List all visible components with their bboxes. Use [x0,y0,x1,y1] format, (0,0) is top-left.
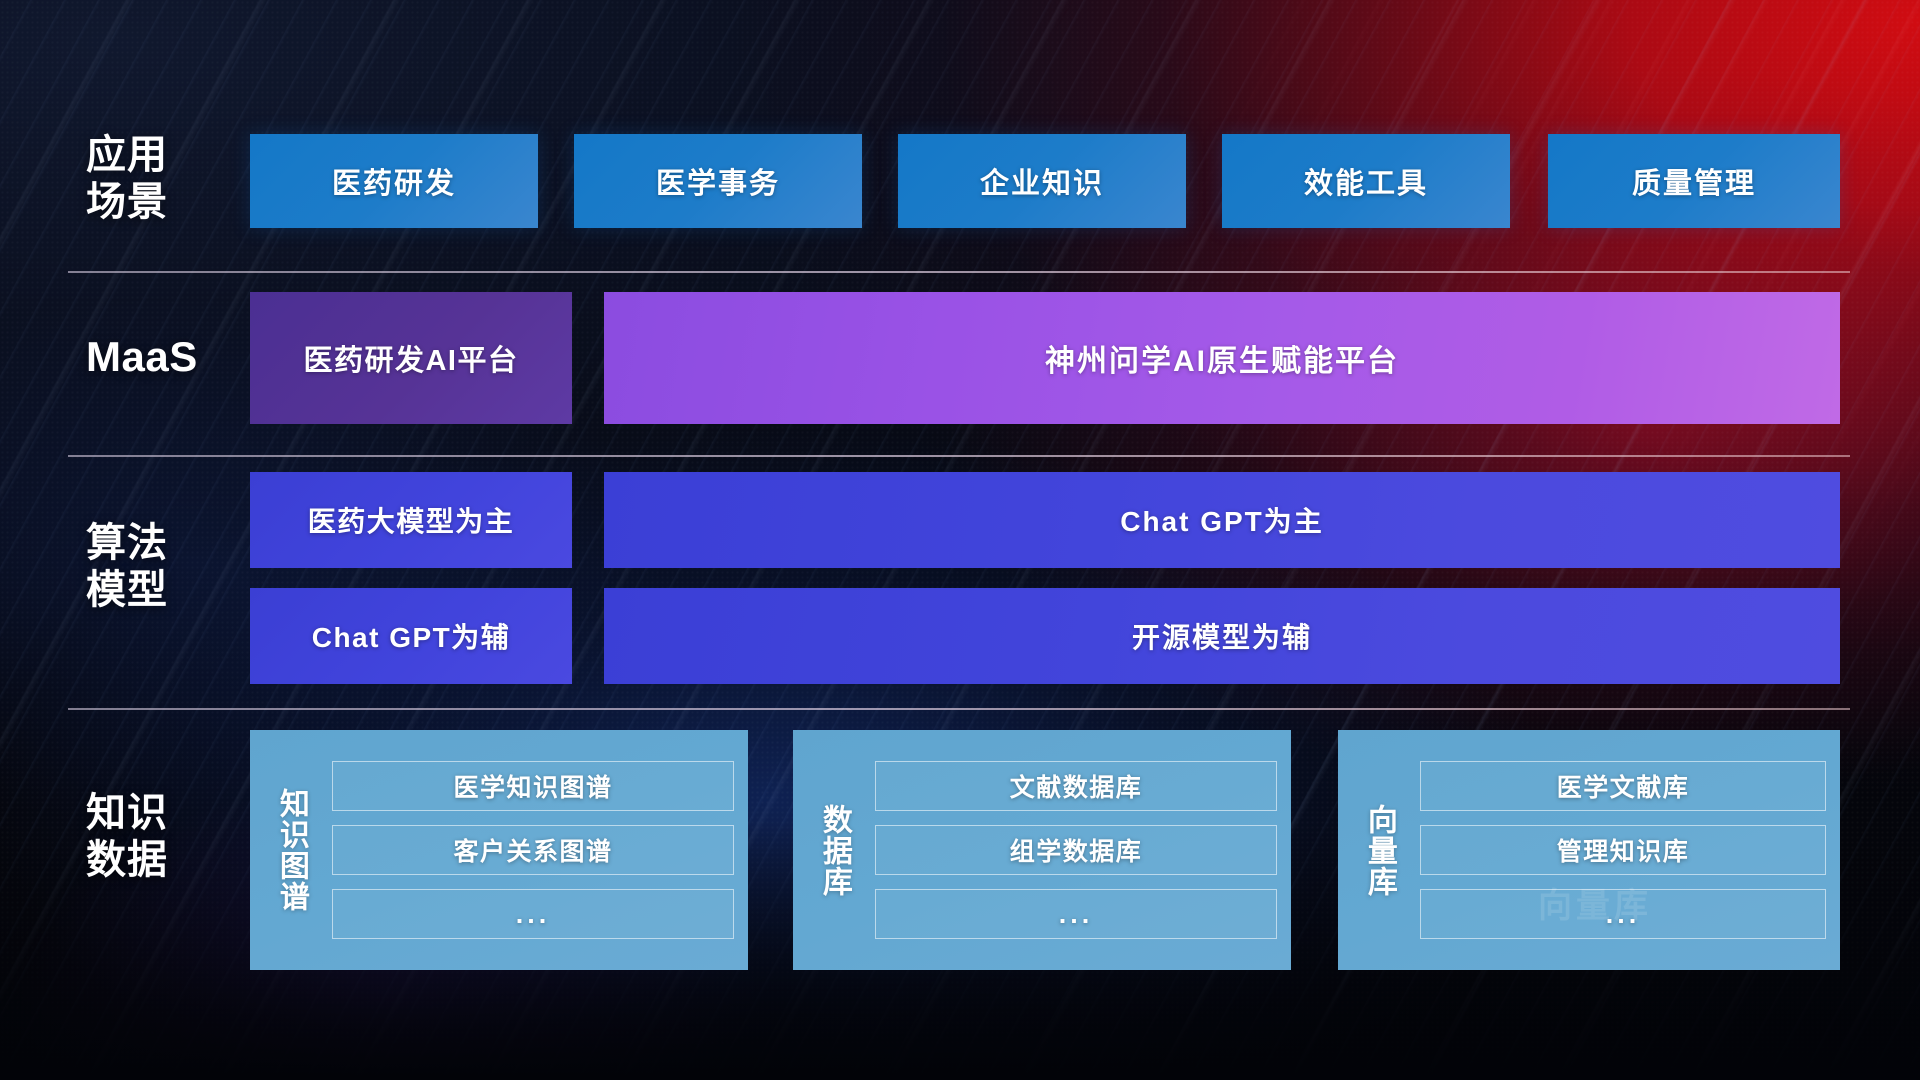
maas-box-shenzhou-wenxue-platform[interactable]: 神州问学AI原生赋能平台 [604,292,1840,424]
app-box-label: 效能工具 [1304,160,1428,202]
knowledge-item-label: 客户关系图谱 [453,832,612,868]
knowledge-item-label: 组学数据库 [1010,832,1143,868]
app-box-label: 企业知识 [980,160,1104,202]
knowledge-group-items: 医学文献库 管理知识库 ... [1420,744,1826,956]
row-label-line: 数据 [86,837,236,884]
knowledge-group-items: 文献数据库 组学数据库 ... [875,744,1277,956]
algo-box-label: Chat GPT为辅 [312,616,511,656]
knowledge-item-label: 管理知识库 [1557,832,1690,868]
app-box-label: 医药研发 [332,160,456,202]
row-knowledge-data: 知识 数据 知识图谱 医学知识图谱 客户关系图谱 ... [0,730,1920,970]
divider-after-maas [68,455,1850,457]
algo-box-label: 开源模型为辅 [1132,616,1312,656]
app-box-quality-management[interactable]: 质量管理 [1548,134,1840,228]
row-label-line: 模型 [86,567,236,614]
knowledge-group-knowledge-graph[interactable]: 知识图谱 医学知识图谱 客户关系图谱 ... [250,730,748,970]
knowledge-item[interactable]: 文献数据库 [875,761,1277,811]
row-label-line: 知识 [86,790,236,837]
knowledge-item-label: 医学知识图谱 [453,768,612,804]
row-label-algorithm-models: 算法 模型 [86,520,236,614]
knowledge-item-label: ... [516,899,551,930]
knowledge-item[interactable]: 医学知识图谱 [332,761,734,811]
algo-box-medicine-large-model-primary[interactable]: 医药大模型为主 [250,472,572,568]
knowledge-item-label: ... [1606,899,1641,930]
row-label-line: 场景 [86,179,236,226]
knowledge-group-label: 向量库 [1338,744,1420,956]
knowledge-group-label: 知识图谱 [250,744,332,956]
row-label-line: 应用 [86,132,236,179]
app-box-label: 质量管理 [1632,160,1756,202]
app-box-medical-affairs[interactable]: 医学事务 [574,134,862,228]
divider-after-application-scenarios [68,271,1850,273]
maas-box-label: 医药研发AI平台 [303,337,518,379]
algo-box-chatgpt-secondary[interactable]: Chat GPT为辅 [250,588,572,684]
knowledge-group-items: 医学知识图谱 客户关系图谱 ... [332,744,734,956]
knowledge-item-more[interactable]: ... [875,889,1277,939]
row-application-scenarios: 应用 场景 医药研发 医学事务 企业知识 效能工具 质量管理 [0,134,1920,228]
knowledge-item-label: ... [1059,899,1094,930]
maas-box-label: 神州问学AI原生赋能平台 [1045,336,1399,380]
diagram-content: 应用 场景 医药研发 医学事务 企业知识 效能工具 质量管理 MaaS [0,0,1920,1080]
knowledge-item-label: 医学文献库 [1557,768,1690,804]
knowledge-item[interactable]: 管理知识库 [1420,825,1826,875]
row-label-line: 算法 [86,520,236,567]
algo-box-opensource-model-secondary[interactable]: 开源模型为辅 [604,588,1840,684]
knowledge-group-database[interactable]: 数据库 文献数据库 组学数据库 ... [793,730,1291,970]
slide-stage: 应用 场景 医药研发 医学事务 企业知识 效能工具 质量管理 MaaS [0,0,1920,1080]
algo-box-label: 医药大模型为主 [308,500,515,540]
knowledge-item-more[interactable]: ... [332,889,734,939]
maas-box-medicine-rd-ai-platform[interactable]: 医药研发AI平台 [250,292,572,424]
app-box-enterprise-knowledge[interactable]: 企业知识 [898,134,1186,228]
row-label-line: MaaS [86,332,236,382]
app-box-label: 医学事务 [656,160,780,202]
knowledge-item[interactable]: 组学数据库 [875,825,1277,875]
app-box-efficiency-tools[interactable]: 效能工具 [1222,134,1510,228]
knowledge-item[interactable]: 客户关系图谱 [332,825,734,875]
knowledge-group-vector-store[interactable]: 向量库 医学文献库 管理知识库 ... [1338,730,1840,970]
row-label-application-scenarios: 应用 场景 [86,132,236,226]
algo-box-label: Chat GPT为主 [1120,500,1324,540]
knowledge-group-label: 数据库 [793,744,875,956]
knowledge-item-label: 文献数据库 [1010,768,1143,804]
row-algorithm-models: 算法 模型 医药大模型为主 Chat GPT为主 Chat GPT为辅 开源模型… [0,472,1920,684]
row-label-maas: MaaS [86,332,236,382]
app-box-medicine-rd[interactable]: 医药研发 [250,134,538,228]
knowledge-item[interactable]: 医学文献库 [1420,761,1826,811]
knowledge-item-more[interactable]: ... [1420,889,1826,939]
divider-after-algorithm-models [68,708,1850,710]
row-label-knowledge-data: 知识 数据 [86,790,236,884]
row-maas: MaaS 医药研发AI平台 神州问学AI原生赋能平台 [0,292,1920,424]
algo-box-chatgpt-primary[interactable]: Chat GPT为主 [604,472,1840,568]
